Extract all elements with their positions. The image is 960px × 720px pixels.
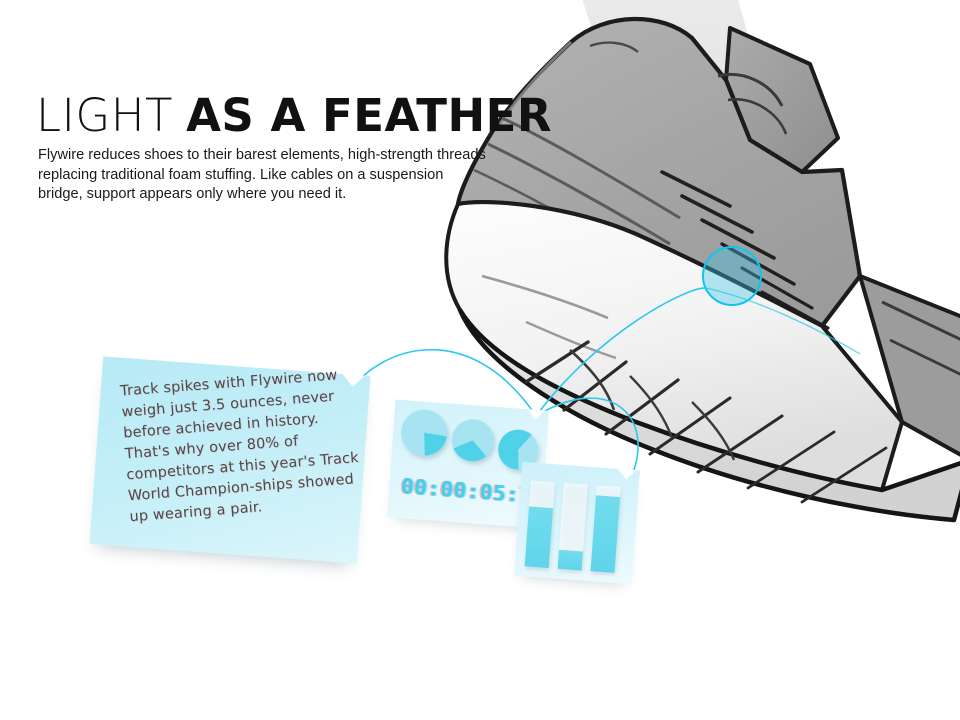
bar-chart-group: ......... <box>525 481 621 573</box>
pie-chart-1 <box>400 408 449 457</box>
bar-tick-label: ... <box>592 570 604 577</box>
stats-bar-panel: ......... <box>514 462 640 584</box>
slide-canvas: LIGHT AS A FEATHER Flywire reduces shoes… <box>0 0 960 720</box>
intro-paragraph: Flywire reduces shoes to their barest el… <box>38 146 490 205</box>
bar-tick-label: ... <box>559 568 571 575</box>
pie-chart-2 <box>450 418 495 463</box>
bar-3: ... <box>591 485 621 573</box>
panel-notch-triangle-icon <box>617 469 636 480</box>
flywire-highlight-circle <box>702 246 762 306</box>
callout-handwritten-text: Track spikes with Flywire now weigh just… <box>119 364 365 528</box>
pie-chart-group <box>399 408 541 471</box>
bar-1: ... <box>525 481 555 569</box>
bar-fill <box>525 506 553 568</box>
page-title: LIGHT AS A FEATHER <box>36 92 552 140</box>
track-spikes-callout-panel: Track spikes with Flywire now weigh just… <box>89 356 370 563</box>
bar-fill <box>591 496 620 573</box>
headline-bold: AS A FEATHER <box>186 89 552 142</box>
bar-tick-label: ... <box>526 565 538 572</box>
headline-thin: LIGHT <box>36 89 173 142</box>
bar-2: ... <box>558 483 588 571</box>
